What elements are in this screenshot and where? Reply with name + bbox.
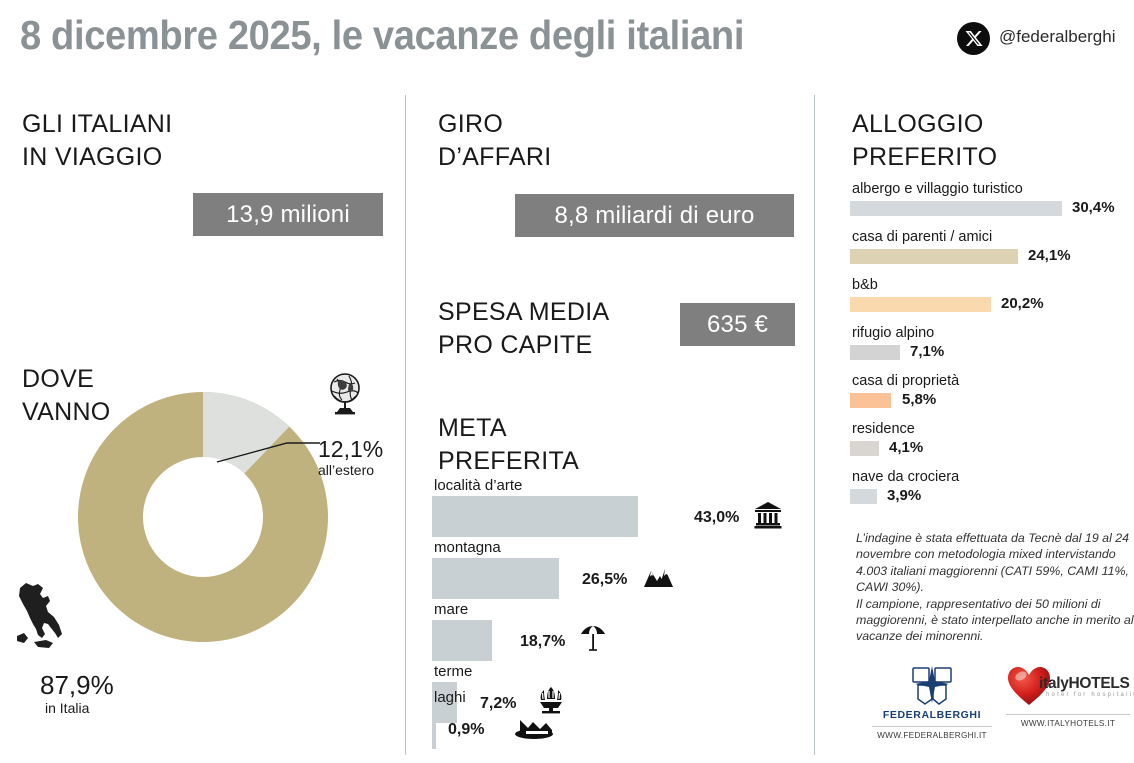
allog-bar-value: 3,9% xyxy=(887,487,921,504)
mountain-icon xyxy=(644,565,674,594)
allog-bar-fill xyxy=(850,393,891,408)
donut-leader-line xyxy=(215,440,325,480)
allog-bar-fill xyxy=(850,345,900,360)
allog-bar-label: albergo e villaggio turistico xyxy=(852,182,1023,197)
column-divider-right xyxy=(814,95,815,755)
section-heading-turnover: GIRO D’AFFARI xyxy=(438,108,552,174)
meta-bar-label: terme xyxy=(434,664,472,680)
average-spend-value-badge: 635 € xyxy=(680,303,795,346)
meta-preferita-bar-chart: località d’arte 43,0% montagna 2 xyxy=(432,478,802,748)
beach-umbrella-icon xyxy=(580,624,606,657)
federalberghi-logo[interactable]: FEDERALBERGHI WWW.FEDERALBERGHI.IT xyxy=(872,665,992,743)
allog-bar-label: nave da crociera xyxy=(852,470,959,485)
survey-methodology-note: L’indagine è stata effettuata da Tecnè d… xyxy=(856,530,1134,648)
lake-icon xyxy=(514,714,556,745)
allog-bar-fill xyxy=(850,201,1062,216)
turnover-value-badge: 8,8 miliardi di euro xyxy=(515,194,794,237)
allog-bar-value: 4,1% xyxy=(889,439,923,456)
logo-tagline: hotel for hospitality xyxy=(1046,692,1134,698)
page-title: 8 dicembre 2025, le vacanze degli italia… xyxy=(20,12,744,59)
allog-bar-label: b&b xyxy=(852,278,878,293)
travelers-value-badge: 13,9 milioni xyxy=(193,193,383,236)
meta-bar-label: montagna xyxy=(434,540,501,556)
allog-bar-value: 7,1% xyxy=(910,343,944,360)
meta-bar-label: località d’arte xyxy=(434,478,522,494)
meta-bar-value: 26,5% xyxy=(582,571,627,589)
meta-bar-value: 43,0% xyxy=(694,509,739,527)
allog-bar-value: 30,4% xyxy=(1072,199,1115,216)
alloggio-preferito-bar-chart: albergo e villaggio turistico 30,4% casa… xyxy=(850,182,1134,522)
infographic-page: 8 dicembre 2025, le vacanze degli italia… xyxy=(0,0,1134,763)
italy-text-label: in Italia xyxy=(45,700,89,716)
logo-label: FEDERALBERGHI xyxy=(872,709,992,721)
allog-bar-label: casa di parenti / amici xyxy=(852,230,992,245)
meta-bar-fill xyxy=(432,620,492,661)
abroad-percent-label: 12,1% xyxy=(318,436,383,463)
italy-map-icon xyxy=(14,580,70,656)
meta-bar-value: 7,2% xyxy=(480,695,516,713)
section-heading-travelers: GLI ITALIANI IN VIAGGIO xyxy=(22,108,172,174)
allog-bar-fill xyxy=(850,249,1018,264)
italyhotels-heart-logo[interactable]: italyHOTELS hotel for hospitality WWW.IT… xyxy=(1006,665,1130,743)
globe-icon xyxy=(325,372,365,416)
allog-bar-value: 24,1% xyxy=(1028,247,1071,264)
logo-url[interactable]: WWW.ITALYHOTELS.IT xyxy=(1006,714,1130,728)
section-heading-average-spend: SPESA MEDIA PRO CAPITE xyxy=(438,296,609,362)
allog-bar-value: 5,8% xyxy=(902,391,936,408)
logo-url[interactable]: WWW.FEDERALBERGHI.IT xyxy=(872,726,992,740)
allog-bar-fill xyxy=(850,489,877,504)
allog-bar-fill xyxy=(850,441,879,456)
column-divider-left xyxy=(405,95,406,755)
allog-bar-value: 20,2% xyxy=(1001,295,1044,312)
allog-bar-fill xyxy=(850,297,991,312)
meta-bar-value: 0,9% xyxy=(448,721,484,739)
dove-vanno-donut-chart xyxy=(78,392,328,642)
meta-bar-fill xyxy=(432,558,559,599)
meta-bar-value: 18,7% xyxy=(520,633,565,651)
x-twitter-icon[interactable] xyxy=(957,22,990,55)
meta-bar-label: laghi xyxy=(434,690,466,706)
header: 8 dicembre 2025, le vacanze degli italia… xyxy=(0,0,1134,88)
abroad-text-label: all’estero xyxy=(318,462,374,478)
meta-bar-fill xyxy=(432,708,436,749)
section-heading-preferred-destination: META PREFERITA xyxy=(438,412,579,478)
allog-bar-label: casa di proprietà xyxy=(852,374,959,389)
italy-percent-label: 87,9% xyxy=(40,670,114,701)
logo-label: italyHOTELS xyxy=(1039,675,1130,693)
allog-bar-label: residence xyxy=(852,422,915,437)
museum-icon xyxy=(754,501,782,534)
meta-bar-fill xyxy=(432,496,638,537)
section-heading-accommodation: ALLOGGIO PREFERITO xyxy=(852,108,997,174)
social-handle[interactable]: @federalberghi xyxy=(999,27,1116,47)
meta-bar-label: mare xyxy=(434,602,468,618)
allog-bar-label: rifugio alpino xyxy=(852,326,934,341)
